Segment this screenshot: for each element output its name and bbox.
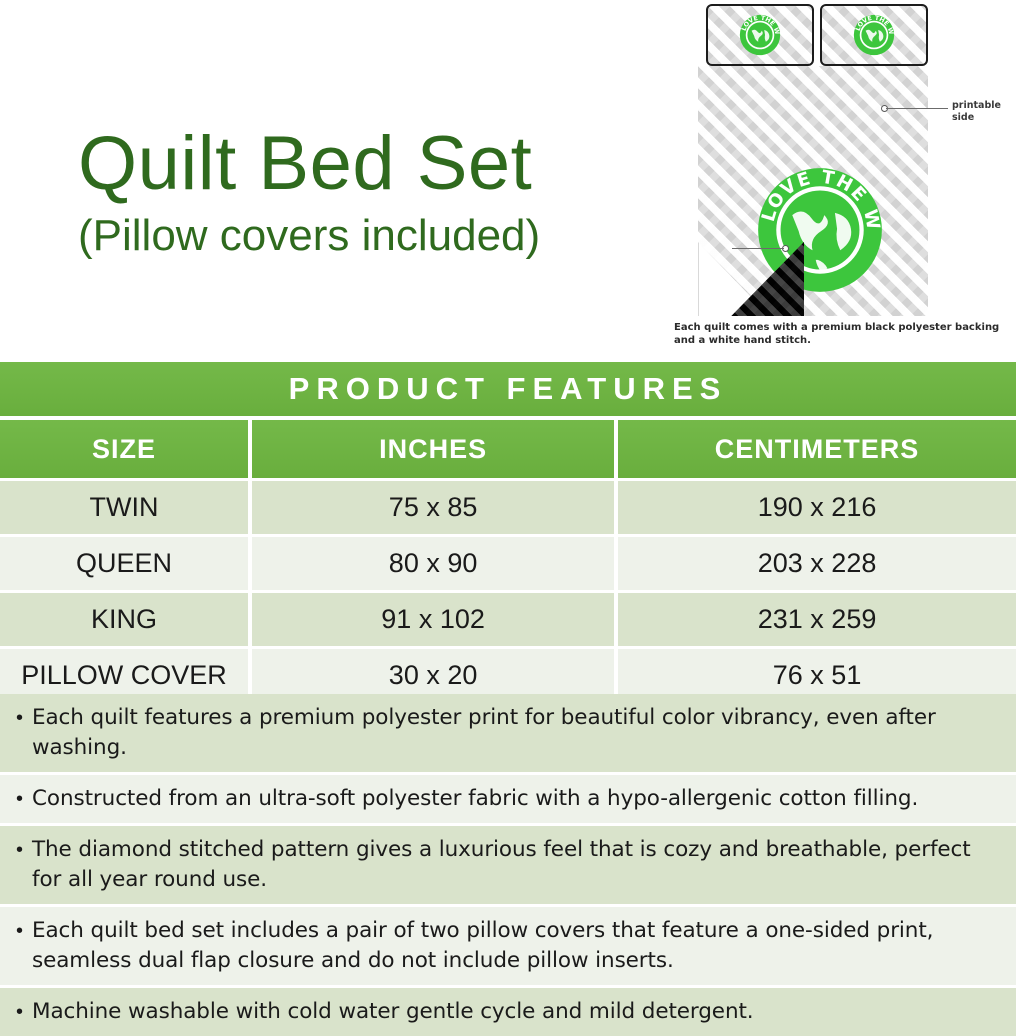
page-title: Quilt Bed Set	[78, 125, 678, 203]
cell-centimeters: 190 x 216	[618, 481, 1016, 534]
table-row: TWIN 75 x 85 190 x 216	[0, 481, 1016, 534]
list-item-text: Machine washable with cold water gentle …	[32, 997, 754, 1027]
bullet-marker-icon: •	[16, 784, 32, 814]
mockup-caption: Each quilt comes with a premium black po…	[674, 322, 1004, 347]
cell-centimeters: 203 x 228	[618, 537, 1016, 590]
bullet-marker-icon: •	[16, 835, 32, 865]
cell-centimeters: 231 x 259	[618, 593, 1016, 646]
bullet-marker-icon: •	[16, 997, 32, 1027]
cell-size: TWIN	[0, 481, 248, 534]
cell-size: QUEEN	[0, 537, 248, 590]
list-item: • The diamond stitched pattern gives a l…	[0, 826, 1016, 904]
quilt-body: LOVE THE WORLD	[698, 66, 928, 316]
printable-side-label-line1: printable	[952, 100, 1001, 111]
product-features-table: PRODUCT FEATURES SIZE INCHES CENTIMETERS…	[0, 362, 1016, 705]
table-header-row: SIZE INCHES CENTIMETERS	[0, 420, 1016, 478]
table-row: KING 91 x 102 231 x 259	[0, 593, 1016, 646]
page-subtitle: (Pillow covers included)	[78, 211, 678, 261]
list-item-text: Each quilt bed set includes a pair of tw…	[32, 916, 1002, 976]
printable-side-label: printable side	[952, 100, 1022, 124]
list-item: • Each quilt features a premium polyeste…	[0, 694, 1016, 772]
title-block: Quilt Bed Set (Pillow covers included)	[78, 125, 678, 261]
love-the-world-logo-icon: LOVE THE WORLD	[853, 14, 895, 56]
list-item: • Constructed from an ultra-soft polyest…	[0, 775, 1016, 823]
product-mockup: LOVE THE WORLD LOVE THE WORLD	[670, 0, 1024, 362]
cell-inches: 80 x 90	[252, 537, 614, 590]
cell-inches: 75 x 85	[252, 481, 614, 534]
column-header-inches: INCHES	[252, 420, 614, 478]
column-header-size: SIZE	[0, 420, 248, 478]
printable-side-leader-line	[886, 108, 948, 109]
table-row: QUEEN 80 x 90 203 x 228	[0, 537, 1016, 590]
list-item-text: Constructed from an ultra-soft polyester…	[32, 784, 918, 814]
hero-section: Quilt Bed Set (Pillow covers included) L…	[0, 0, 1024, 362]
product-infographic: Quilt Bed Set (Pillow covers included) L…	[0, 0, 1024, 1024]
list-item: • Each quilt bed set includes a pair of …	[0, 907, 1016, 985]
pillow-right: LOVE THE WORLD	[820, 4, 928, 66]
love-the-world-logo-icon: LOVE THE WORLD	[739, 14, 781, 56]
bullet-marker-icon: •	[16, 916, 32, 946]
bullet-marker-icon: •	[16, 703, 32, 733]
backing-leader-line	[732, 248, 784, 249]
product-features-banner: PRODUCT FEATURES	[0, 362, 1016, 416]
cell-inches: 91 x 102	[252, 593, 614, 646]
list-item: • Machine washable with cold water gentl…	[0, 988, 1016, 1036]
pillow-left: LOVE THE WORLD	[706, 4, 814, 66]
list-item-text: Each quilt features a premium polyester …	[32, 703, 1002, 763]
feature-bullet-list: • Each quilt features a premium polyeste…	[0, 694, 1016, 1036]
column-header-centimeters: CENTIMETERS	[618, 420, 1016, 478]
printable-side-label-line2: side	[952, 112, 974, 123]
list-item-text: The diamond stitched pattern gives a lux…	[32, 835, 1002, 895]
cell-size: KING	[0, 593, 248, 646]
